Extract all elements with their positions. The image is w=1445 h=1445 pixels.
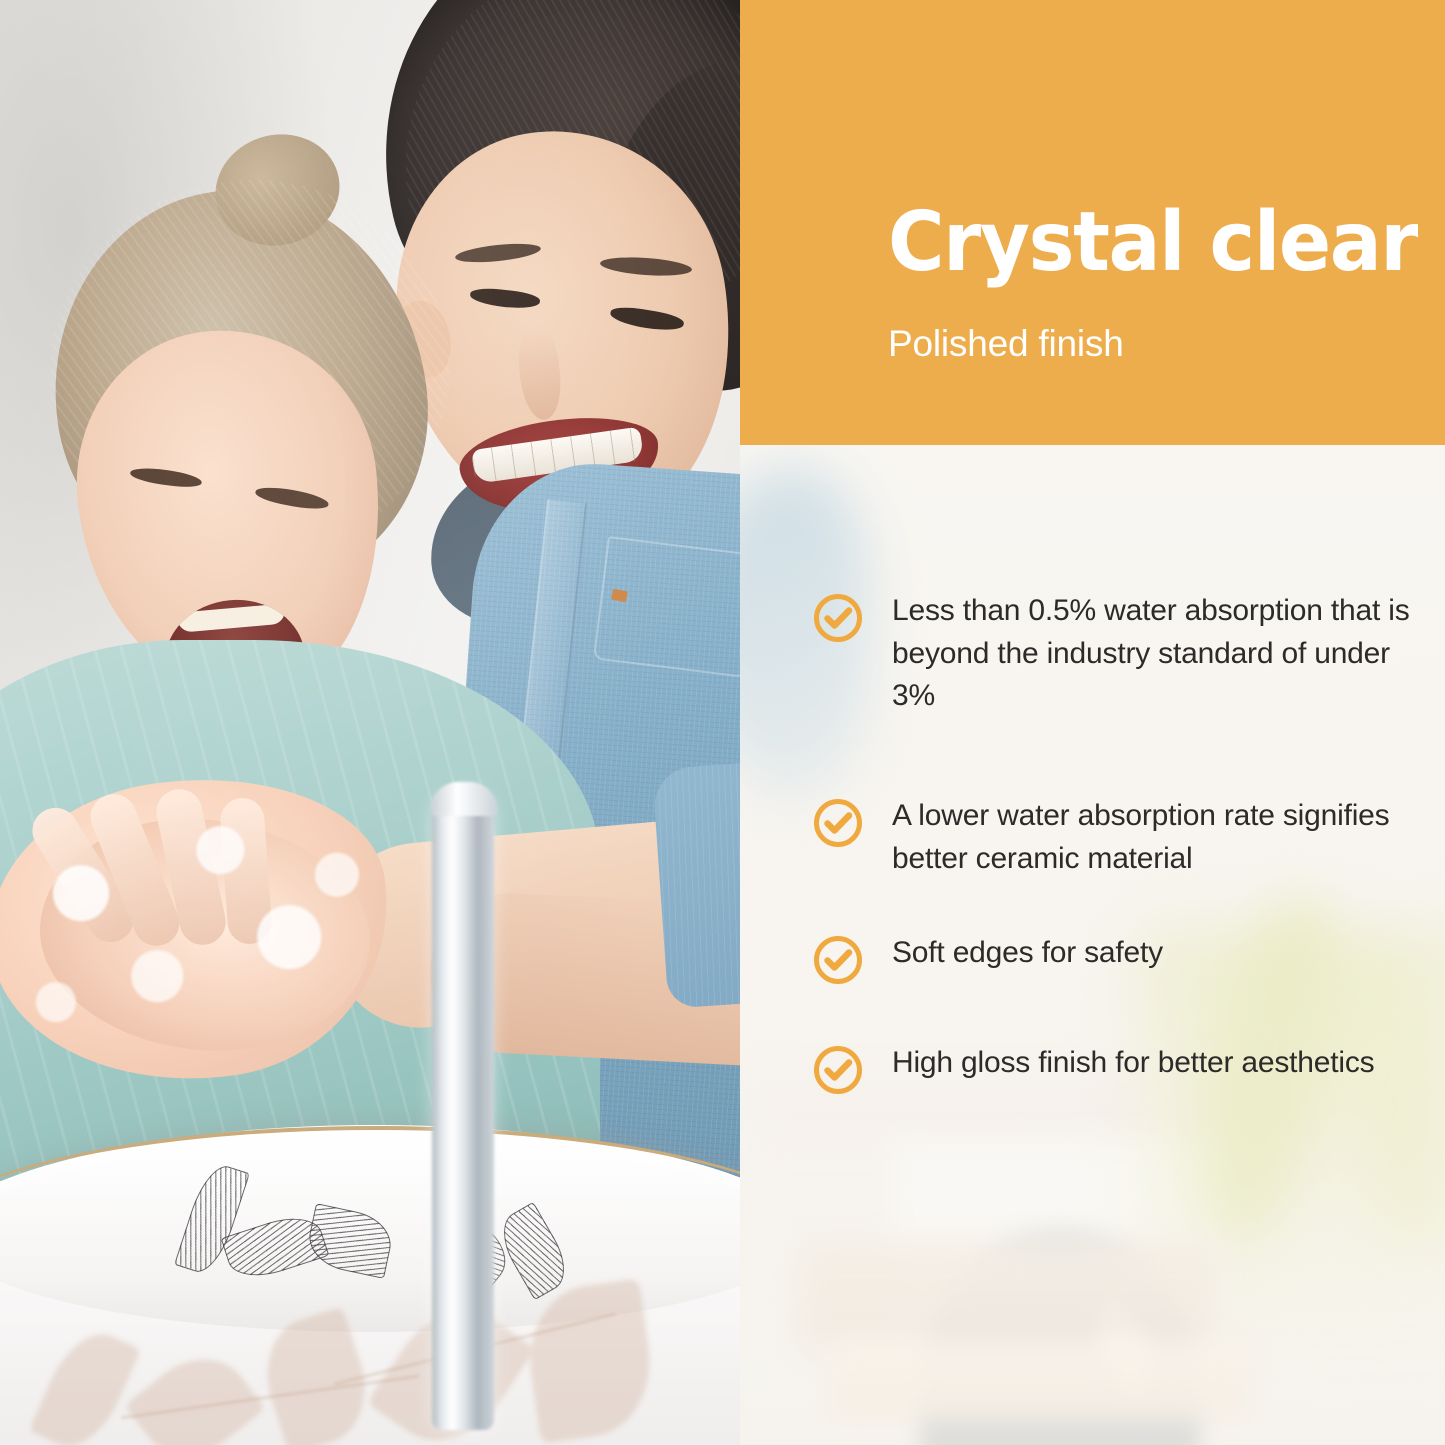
feature-item-label: Less than 0.5% water absorption that is … bbox=[892, 590, 1412, 718]
feature-item-label: High gloss finish for better aesthetics bbox=[892, 1042, 1374, 1085]
check-circle-icon bbox=[812, 797, 864, 849]
basin-leaf-5 bbox=[492, 1202, 577, 1300]
feature-item-water-absorption: Less than 0.5% water absorption that is … bbox=[812, 590, 1412, 718]
lifestyle-photo bbox=[0, 0, 740, 1445]
chrome-faucet bbox=[432, 790, 494, 1430]
denim-sleeve-texture bbox=[652, 751, 740, 1009]
basin-leaf-3 bbox=[304, 1203, 397, 1279]
check-circle-icon bbox=[812, 1044, 864, 1096]
feature-list: Less than 0.5% water absorption that is … bbox=[740, 0, 1445, 1445]
feature-item-high-gloss: High gloss finish for better aesthetics bbox=[812, 1042, 1412, 1096]
feature-panel: Crystal clear Polished finish Less than … bbox=[740, 0, 1445, 1445]
feature-item-label: Soft edges for safety bbox=[892, 932, 1163, 975]
check-circle-icon bbox=[812, 592, 864, 644]
product-feature-banner: Crystal clear Polished finish Less than … bbox=[0, 0, 1445, 1445]
denim-chest-pocket bbox=[593, 536, 740, 678]
check-circle-icon bbox=[812, 934, 864, 986]
feature-item-soft-edges: Soft edges for safety bbox=[812, 932, 1412, 986]
feature-item-label: A lower water absorption rate signifies … bbox=[892, 795, 1412, 880]
feature-item-ceramic-material: A lower water absorption rate signifies … bbox=[812, 795, 1412, 880]
